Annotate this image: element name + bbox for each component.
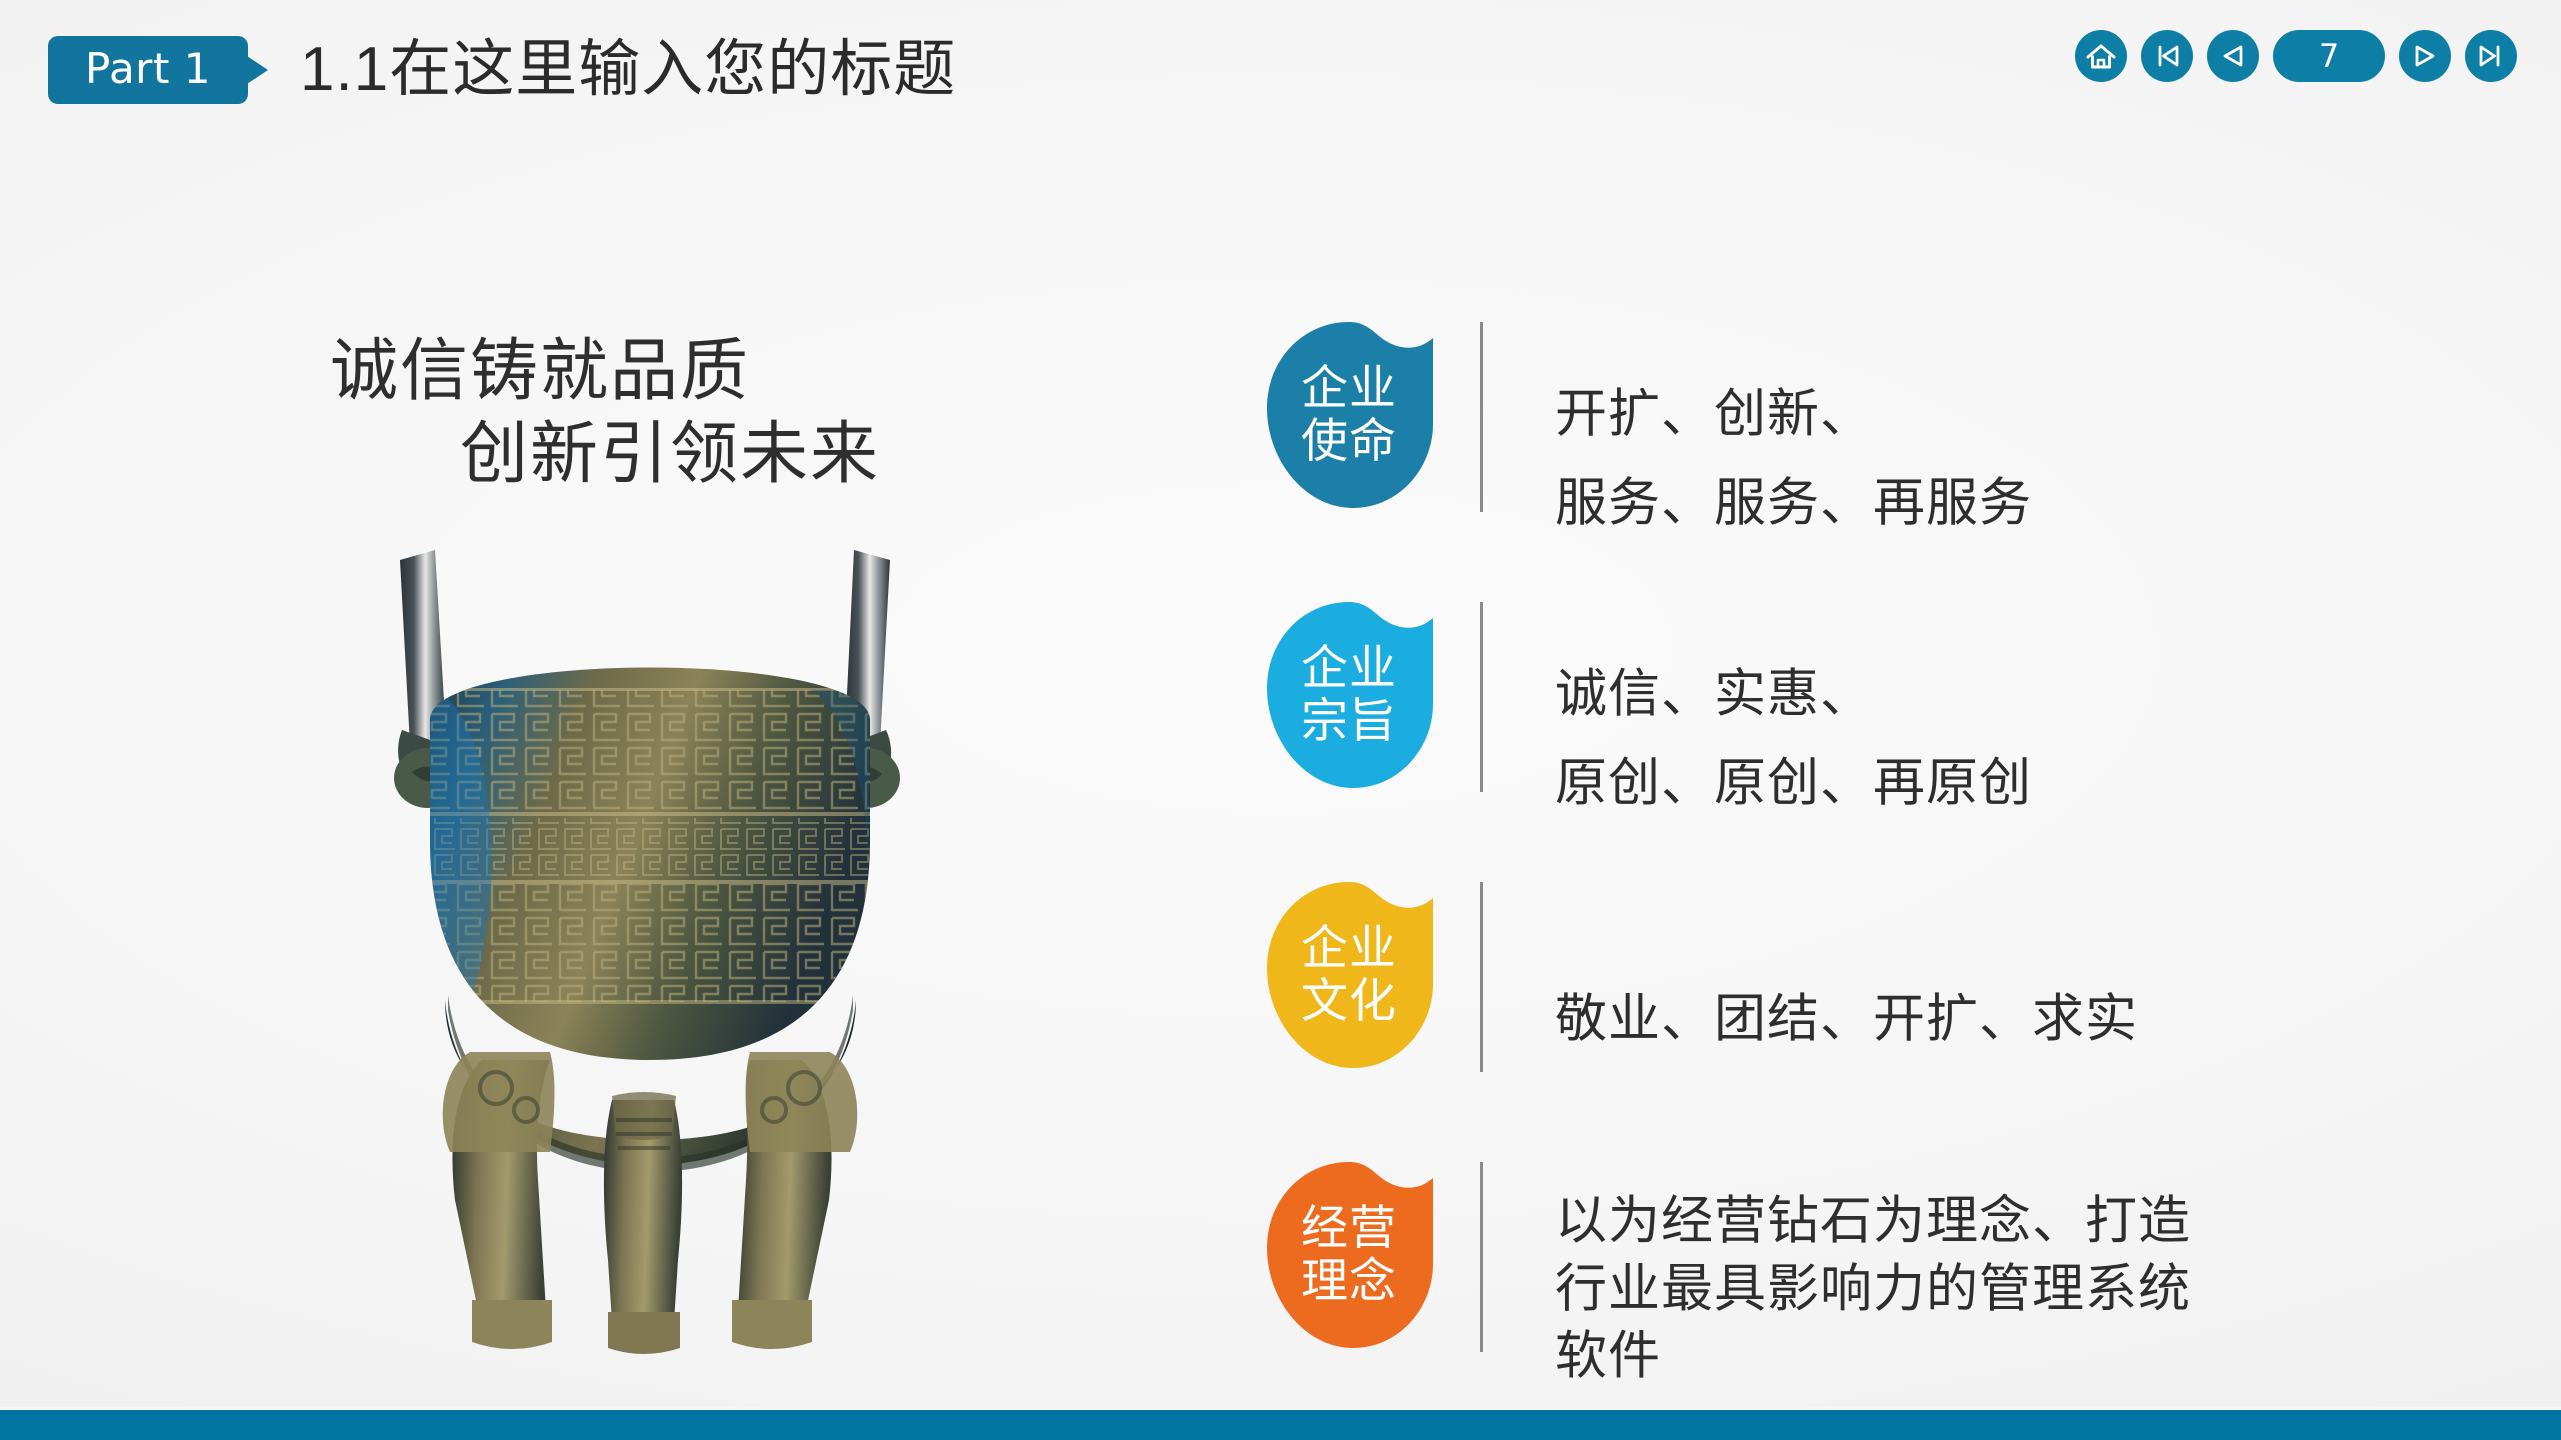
badge-label: 经营 理念 [1265, 1160, 1433, 1350]
badge-line-1: 企业 [1301, 922, 1397, 975]
badge-qiye-wenhua: 企业 文化 [1265, 880, 1455, 1070]
page-number-indicator[interactable]: 7 [2273, 30, 2385, 82]
row-text-line: 敬业、团结、开扩、求实 [1555, 975, 2138, 1064]
row-text-line: 开扩、创新、 [1555, 371, 2032, 460]
slogan-line-1: 诚信铸就品质 [330, 330, 880, 413]
badge-line-2: 使命 [1301, 415, 1397, 468]
badge-line-2: 宗旨 [1301, 695, 1397, 748]
badge-qiye-zongzhi: 企业 宗旨 [1265, 600, 1455, 790]
previous-page-icon[interactable] [2207, 30, 2259, 82]
badge-qiye-shiming: 企业 使命 [1265, 320, 1455, 510]
value-row: 经营 理念 以为经营钻石为理念、打造 行业最具影响力的管理系统 软件 [1255, 1160, 2435, 1420]
slide-navigation: 7 [2075, 30, 2517, 82]
badge-jingying-linian: 经营 理念 [1265, 1160, 1455, 1350]
badge-label: 企业 使命 [1265, 320, 1433, 510]
value-row: 企业 宗旨 诚信、实惠、 原创、原创、再原创 [1255, 600, 2435, 880]
row-text-line: 行业最具影响力的管理系统 [1555, 1256, 2191, 1324]
row-text: 以为经营钻石为理念、打造 行业最具影响力的管理系统 软件 [1555, 1189, 2191, 1392]
footer-bar [0, 1410, 2561, 1440]
next-page-icon[interactable] [2399, 30, 2451, 82]
slogan-line-2: 创新引领未来 [330, 413, 880, 496]
badge-line-1: 企业 [1301, 362, 1397, 415]
row-divider [1480, 602, 1483, 792]
last-page-icon[interactable] [2465, 30, 2517, 82]
row-text-line: 软件 [1555, 1324, 2191, 1392]
slogan: 诚信铸就品质 创新引领未来 [330, 330, 880, 496]
page-title: 1.1在这里输入您的标题 [300, 18, 956, 108]
badge-line-2: 文化 [1301, 975, 1397, 1028]
row-divider [1480, 322, 1483, 512]
row-text-line: 诚信、实惠、 [1555, 651, 2032, 740]
badge-label: 企业 宗旨 [1265, 600, 1433, 790]
value-rows: 企业 使命 开扩、创新、 服务、服务、再服务 企业 宗旨 [1255, 320, 2435, 1420]
badge-line-2: 理念 [1301, 1255, 1397, 1308]
bronze-ding-vessel [250, 540, 1050, 1360]
slide: Part 1 1.1在这里输入您的标题 [0, 0, 2561, 1440]
row-text: 开扩、创新、 服务、服务、再服务 [1555, 371, 2032, 550]
row-text-line: 以为经营钻石为理念、打造 [1555, 1189, 2191, 1257]
badge-line-1: 经营 [1301, 1202, 1397, 1255]
home-icon[interactable] [2075, 30, 2127, 82]
badge-label: 企业 文化 [1265, 880, 1433, 1070]
value-row: 企业 使命 开扩、创新、 服务、服务、再服务 [1255, 320, 2435, 600]
row-divider [1480, 1162, 1483, 1352]
badge-line-1: 企业 [1301, 642, 1397, 695]
row-text-line: 原创、原创、再原创 [1555, 740, 2032, 829]
row-divider [1480, 882, 1483, 1072]
part-badge-label: Part 1 [48, 36, 248, 104]
part-badge: Part 1 [48, 36, 266, 104]
row-text: 敬业、团结、开扩、求实 [1555, 975, 2138, 1064]
row-text: 诚信、实惠、 原创、原创、再原创 [1555, 651, 2032, 830]
row-text-line: 服务、服务、再服务 [1555, 460, 2032, 549]
first-page-icon[interactable] [2141, 30, 2193, 82]
slide-header: Part 1 1.1在这里输入您的标题 [0, 0, 2561, 150]
value-row: 企业 文化 敬业、团结、开扩、求实 [1255, 880, 2435, 1160]
